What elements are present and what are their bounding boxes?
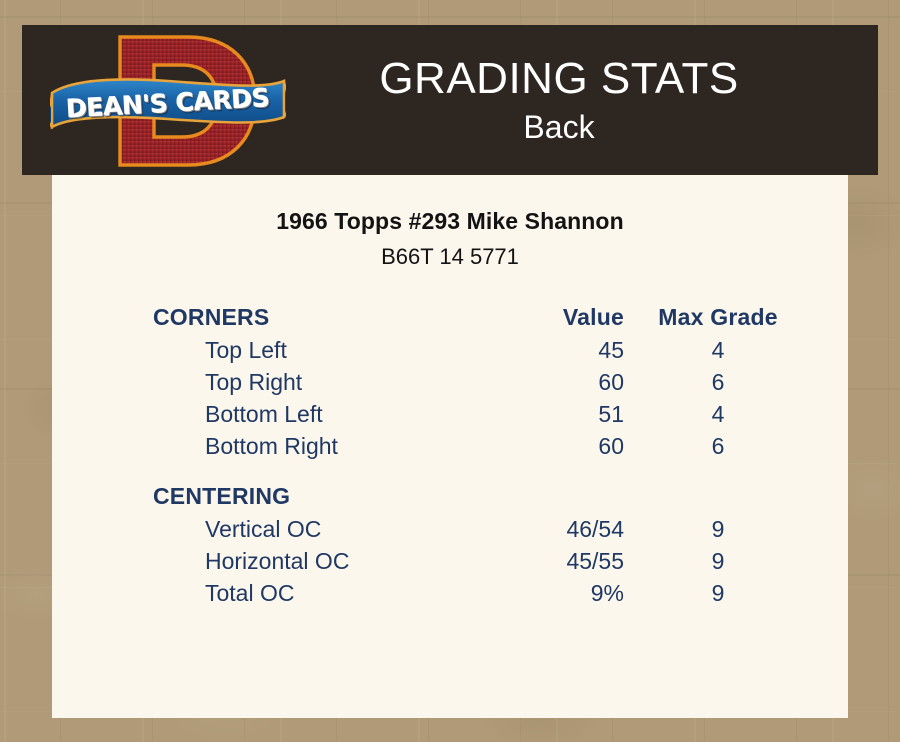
- section-title: CORNERS: [153, 301, 458, 335]
- stats-section-header: CORNERSValueMax Grade: [153, 301, 798, 335]
- header-bar: DEAN'S CARDS GRADING STATS Back: [22, 25, 878, 175]
- row-max-grade: 9: [638, 578, 798, 610]
- row-label: Top Left: [153, 335, 458, 367]
- column-header-value: Value: [458, 301, 638, 335]
- row-value: 46/54: [458, 514, 638, 546]
- row-label: Bottom Right: [153, 431, 458, 463]
- column-header-value: [458, 463, 638, 514]
- row-label: Vertical OC: [153, 514, 458, 546]
- row-value: 9%: [458, 578, 638, 610]
- row-max-grade: 6: [638, 431, 798, 463]
- row-max-grade: 6: [638, 367, 798, 399]
- grading-stats: CORNERSValueMax GradeTop Left454Top Righ…: [52, 301, 848, 610]
- row-max-grade: 4: [638, 335, 798, 367]
- card-code: B66T 14 5771: [52, 244, 848, 270]
- row-max-grade: 9: [638, 514, 798, 546]
- logo-ribbon-icon: [50, 73, 286, 139]
- page-title: GRADING STATS: [280, 53, 838, 105]
- row-value: 45: [458, 335, 638, 367]
- card-title: 1966 Topps #293 Mike Shannon: [52, 208, 848, 235]
- row-label: Total OC: [153, 578, 458, 610]
- row-label: Horizontal OC: [153, 546, 458, 578]
- header-titles: GRADING STATS Back: [280, 53, 878, 147]
- stats-section-header: CENTERING: [153, 463, 798, 514]
- content-panel: 1966 Topps #293 Mike Shannon B66T 14 577…: [52, 175, 848, 718]
- table-row: Horizontal OC45/559: [153, 546, 798, 578]
- row-label: Top Right: [153, 367, 458, 399]
- column-header-max-grade: [638, 463, 798, 514]
- table-row: Top Left454: [153, 335, 798, 367]
- stats-table: CORNERSValueMax GradeTop Left454Top Righ…: [153, 301, 798, 610]
- row-label: Bottom Left: [153, 399, 458, 431]
- section-title: CENTERING: [153, 463, 458, 514]
- row-value: 51: [458, 399, 638, 431]
- deans-cards-logo[interactable]: DEAN'S CARDS: [22, 25, 280, 175]
- row-value: 60: [458, 431, 638, 463]
- row-max-grade: 4: [638, 399, 798, 431]
- table-row: Vertical OC46/549: [153, 514, 798, 546]
- table-row: Total OC9%9: [153, 578, 798, 610]
- row-value: 45/55: [458, 546, 638, 578]
- row-max-grade: 9: [638, 546, 798, 578]
- table-row: Bottom Left514: [153, 399, 798, 431]
- column-header-max-grade: Max Grade: [638, 301, 798, 335]
- table-row: Top Right606: [153, 367, 798, 399]
- row-value: 60: [458, 367, 638, 399]
- table-row: Bottom Right606: [153, 431, 798, 463]
- page-subtitle: Back: [280, 107, 838, 147]
